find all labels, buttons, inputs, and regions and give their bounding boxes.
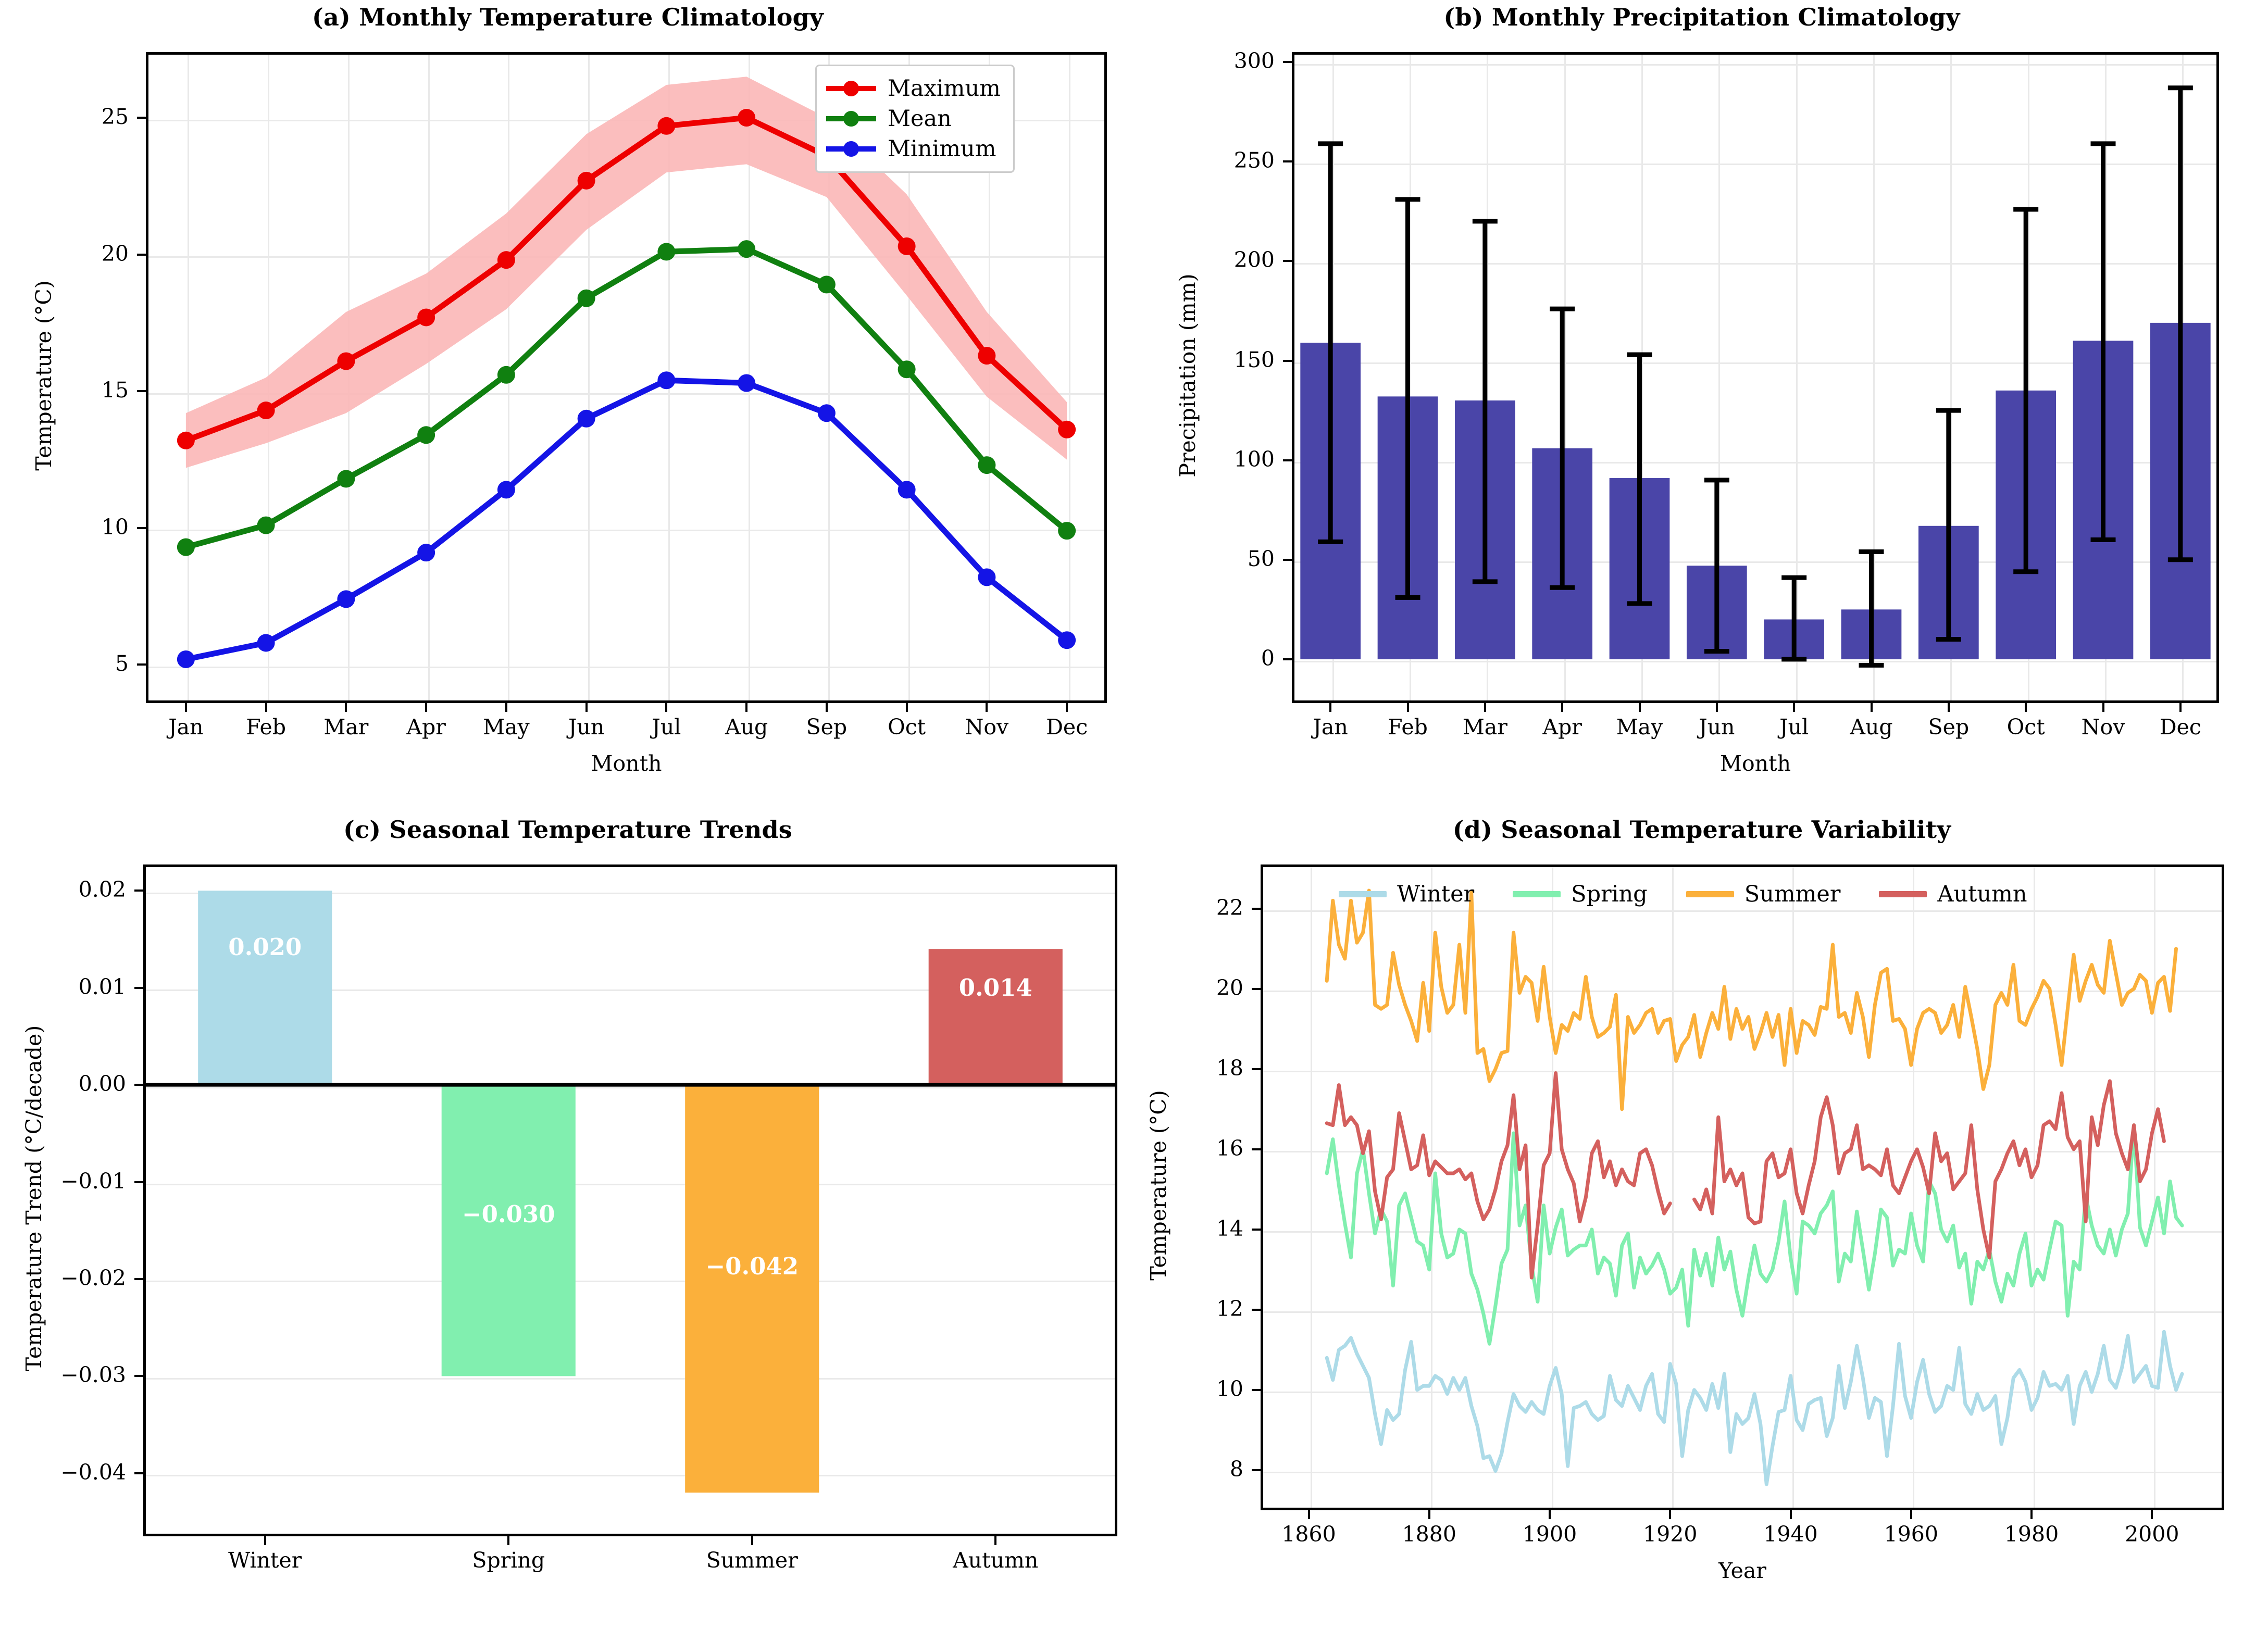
legend-item-label: Mean: [888, 106, 952, 132]
xtick-label: Dec: [2102, 715, 2259, 740]
legend-item-summer[interactable]: Summer: [1686, 881, 1841, 907]
xtick-mark: [1716, 703, 1718, 712]
xtick-mark: [585, 703, 588, 712]
xtick-mark: [1549, 1510, 1551, 1519]
bar-value-label: −0.030: [404, 1200, 613, 1228]
xtick-mark: [1669, 1510, 1671, 1519]
xtick-mark: [994, 1536, 996, 1545]
legend-item-label: Minimum: [888, 136, 996, 162]
ytick-label: 100: [1066, 447, 1275, 472]
ytick-label: 20: [0, 241, 129, 266]
ytick-label: 50: [1066, 546, 1275, 571]
xtick-label: Dec: [989, 715, 1145, 740]
xtick-label: Winter: [187, 1548, 343, 1573]
ytick-mark: [134, 1278, 143, 1280]
ytick-label: 25: [0, 104, 129, 129]
ytick-label: 10: [1035, 1376, 1243, 1401]
legend-item-label: Spring: [1571, 881, 1648, 907]
legend-marker-icon: [843, 81, 859, 96]
ytick-mark: [134, 1084, 143, 1086]
xtick-mark: [906, 703, 908, 712]
xtick-mark: [505, 703, 507, 712]
legend-item-label: Autumn: [1937, 881, 2027, 907]
panel-d-seasonal-variability: (d) Seasonal Temperature Variability Win…: [1136, 812, 2268, 1629]
xtick-mark: [986, 703, 988, 712]
xtick-mark: [1428, 1510, 1430, 1519]
climate-figure: (a) Monthly Temperature Climatology Maxi…: [0, 0, 2268, 1629]
ytick-mark: [1252, 1309, 1261, 1311]
ytick-mark: [137, 663, 146, 666]
ytick-mark: [134, 1472, 143, 1474]
legend-line-icon: [1339, 891, 1387, 897]
ytick-mark: [1283, 160, 1292, 162]
xtick-mark: [1948, 703, 1950, 712]
legend-marker-icon: [843, 111, 859, 127]
xtick-mark: [1329, 703, 1331, 712]
ytick-mark: [1283, 658, 1292, 660]
panel-d-series-svg: [1136, 812, 2268, 1629]
xtick-mark: [665, 703, 667, 712]
xtick-mark: [2151, 1510, 2153, 1519]
xtick-mark: [507, 1536, 509, 1545]
legend-line-icon: [1686, 891, 1734, 897]
ytick-mark: [1252, 1469, 1261, 1471]
ytick-label: 0.01: [0, 974, 126, 999]
panel-b-monthly-precipitation: (b) Monthly Precipitation Climatology Mo…: [1136, 0, 2268, 812]
ytick-label: 150: [1066, 347, 1275, 372]
ytick-label: 0: [1066, 646, 1275, 671]
xtick-mark: [1910, 1510, 1912, 1519]
ytick-mark: [1252, 1068, 1261, 1070]
ytick-label: −0.01: [0, 1169, 126, 1194]
ytick-label: 18: [1035, 1056, 1243, 1081]
panel-d-legend: WinterSpringSummerAutumn: [1339, 881, 2066, 907]
ytick-mark: [1252, 988, 1261, 990]
xtick-mark: [745, 703, 747, 712]
panel-b-xaxis-label: Month: [1292, 751, 2219, 776]
legend-item-maximum[interactable]: Maximum: [826, 73, 1001, 104]
xtick-mark: [345, 703, 347, 712]
ytick-label: 300: [1066, 48, 1275, 73]
panel-d-xaxis-label: Year: [1261, 1558, 2224, 1583]
ytick-label: 12: [1035, 1296, 1243, 1321]
xtick-mark: [1066, 703, 1068, 712]
xtick-mark: [1639, 703, 1641, 712]
legend-item-mean[interactable]: Mean: [826, 104, 1001, 134]
ytick-mark: [137, 117, 146, 119]
panel-c-seasonal-trends: (c) Seasonal Temperature Trends Temperat…: [0, 812, 1136, 1629]
ytick-mark: [137, 254, 146, 256]
xtick-mark: [1793, 703, 1795, 712]
xtick-label: Summer: [674, 1548, 830, 1573]
xtick-mark: [1308, 1510, 1310, 1519]
xtick-mark: [2179, 703, 2182, 712]
ytick-label: −0.02: [0, 1265, 126, 1290]
ytick-mark: [1252, 1229, 1261, 1231]
panel-a-xaxis-label: Month: [146, 751, 1107, 776]
ytick-label: 0.00: [0, 1071, 126, 1096]
legend-item-label: Maximum: [888, 76, 1001, 102]
panel-b-bars-svg: [1136, 0, 2268, 812]
ytick-mark: [134, 1375, 143, 1377]
xtick-mark: [1407, 703, 1409, 712]
xtick-mark: [264, 1536, 266, 1545]
ytick-mark: [1283, 360, 1292, 362]
xtick-mark: [1484, 703, 1486, 712]
panel-a-legend: MaximumMeanMinimum: [815, 65, 1015, 173]
ytick-mark: [1283, 61, 1292, 63]
ytick-mark: [137, 527, 146, 529]
ytick-mark: [1252, 908, 1261, 910]
ytick-mark: [137, 390, 146, 392]
ytick-mark: [1283, 459, 1292, 461]
ytick-mark: [134, 987, 143, 989]
ytick-label: 22: [1035, 895, 1243, 920]
legend-line-icon: [826, 86, 876, 91]
ytick-mark: [1283, 559, 1292, 561]
legend-item-label: Summer: [1744, 881, 1841, 907]
panel-a-monthly-temperature: (a) Monthly Temperature Climatology Maxi…: [0, 0, 1136, 812]
xtick-mark: [1871, 703, 1873, 712]
ytick-mark: [1252, 1389, 1261, 1391]
ytick-label: −0.04: [0, 1460, 126, 1485]
xtick-label: Autumn: [917, 1548, 1074, 1573]
xtick-mark: [751, 1536, 753, 1545]
legend-item-label: Winter: [1397, 881, 1474, 907]
ytick-label: 250: [1066, 148, 1275, 173]
ytick-label: 20: [1035, 975, 1243, 1000]
ytick-label: 15: [0, 378, 129, 403]
xtick-mark: [1561, 703, 1563, 712]
legend-item-winter[interactable]: Winter: [1339, 881, 1474, 907]
legend-item-minimum[interactable]: Minimum: [826, 134, 1001, 164]
xtick-mark: [1790, 1510, 1792, 1519]
ytick-label: 5: [0, 651, 129, 676]
panel-d-yaxis-label: Temperature (°C): [1146, 862, 1171, 1508]
ytick-mark: [134, 1181, 143, 1183]
xtick-mark: [2102, 703, 2104, 712]
ytick-label: 8: [1035, 1457, 1243, 1482]
ytick-label: 14: [1035, 1216, 1243, 1241]
xtick-mark: [2030, 1510, 2033, 1519]
xtick-label: Spring: [430, 1548, 587, 1573]
ytick-label: 0.02: [0, 877, 126, 902]
ytick-mark: [1252, 1148, 1261, 1150]
legend-item-spring[interactable]: Spring: [1513, 881, 1648, 907]
xtick-mark: [265, 703, 267, 712]
xtick-mark: [425, 703, 427, 712]
xtick-label: 2000: [2074, 1522, 2230, 1547]
xtick-mark: [2025, 703, 2027, 712]
ytick-mark: [134, 889, 143, 892]
legend-line-icon: [1879, 891, 1927, 897]
ytick-mark: [1283, 260, 1292, 262]
ytick-label: 200: [1066, 247, 1275, 272]
ytick-label: 10: [0, 515, 129, 540]
xtick-mark: [185, 703, 187, 712]
legend-line-icon: [826, 146, 876, 152]
panel-c-yaxis-label: Temperature Trend (°C/decade): [21, 862, 46, 1534]
legend-item-autumn[interactable]: Autumn: [1879, 881, 2027, 907]
legend-marker-icon: [843, 141, 859, 157]
panel-a-yaxis-label: Temperature (°C): [31, 50, 56, 701]
legend-line-icon: [826, 116, 876, 121]
xtick-mark: [826, 703, 828, 712]
legend-line-icon: [1513, 891, 1561, 897]
ytick-label: −0.03: [0, 1362, 126, 1387]
ytick-label: 16: [1035, 1136, 1243, 1161]
bar-value-label: −0.042: [648, 1252, 856, 1280]
bar-value-label: 0.020: [161, 933, 369, 961]
